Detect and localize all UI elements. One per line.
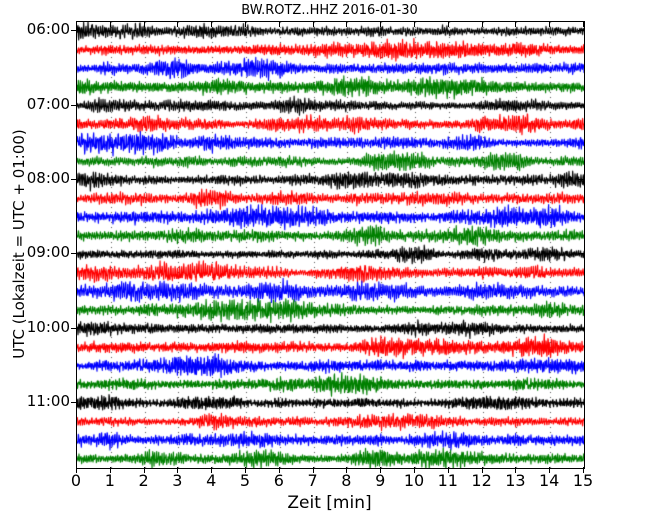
x-tick-label: 15 [563,471,603,491]
x-tick-mark-top [380,21,381,27]
y-axis-label: UTC (Lokalzeit = UTC + 01:00) [8,21,30,467]
x-tick-mark [346,467,347,473]
y-tick-mark [71,253,77,254]
seismogram-figure: BW.ROTZ..HHZ 2016-01-30 06:0007:0008:000… [0,0,650,520]
y-tick-mark [71,328,77,329]
x-tick-mark [448,467,449,473]
x-tick-mark-top [279,21,280,27]
x-tick-mark [144,467,145,473]
x-tick-mark [211,467,212,473]
x-tick-mark [110,467,111,473]
x-tick-mark [76,467,77,473]
x-tick-mark-top [583,21,584,27]
y-tick-mark [71,105,77,106]
x-tick-mark [414,467,415,473]
x-tick-mark-top [144,21,145,27]
x-tick-mark-top [346,21,347,27]
x-tick-mark-top [313,21,314,27]
x-tick-mark [583,467,584,473]
x-tick-mark [245,467,246,473]
x-tick-mark [380,467,381,473]
x-tick-mark-top [482,21,483,27]
x-axis-ticks: 0123456789101112131415 [0,471,650,493]
y-tick-mark-right [578,402,584,403]
x-tick-mark [313,467,314,473]
y-tick-mark-right [578,328,584,329]
x-tick-mark-top [211,21,212,27]
y-tick-mark [71,402,77,403]
page-title: BW.ROTZ..HHZ 2016-01-30 [76,3,583,19]
y-tick-mark [71,179,77,180]
y-tick-mark-right [578,30,584,31]
x-axis-label: Zeit [min] [76,492,583,514]
seismogram-canvas [77,22,584,468]
x-tick-mark-top [448,21,449,27]
x-tick-mark-top [245,21,246,27]
x-tick-mark-top [414,21,415,27]
x-tick-mark [177,467,178,473]
y-tick-mark-right [578,105,584,106]
x-tick-mark-top [76,21,77,27]
x-tick-mark [482,467,483,473]
y-tick-mark-right [578,253,584,254]
x-tick-mark [549,467,550,473]
x-tick-mark-top [549,21,550,27]
x-tick-mark-top [110,21,111,27]
x-tick-mark [515,467,516,473]
y-tick-mark-right [578,179,584,180]
y-tick-mark [71,30,77,31]
x-tick-mark-top [515,21,516,27]
plot-area [76,21,585,469]
x-tick-mark-top [177,21,178,27]
x-tick-mark [279,467,280,473]
